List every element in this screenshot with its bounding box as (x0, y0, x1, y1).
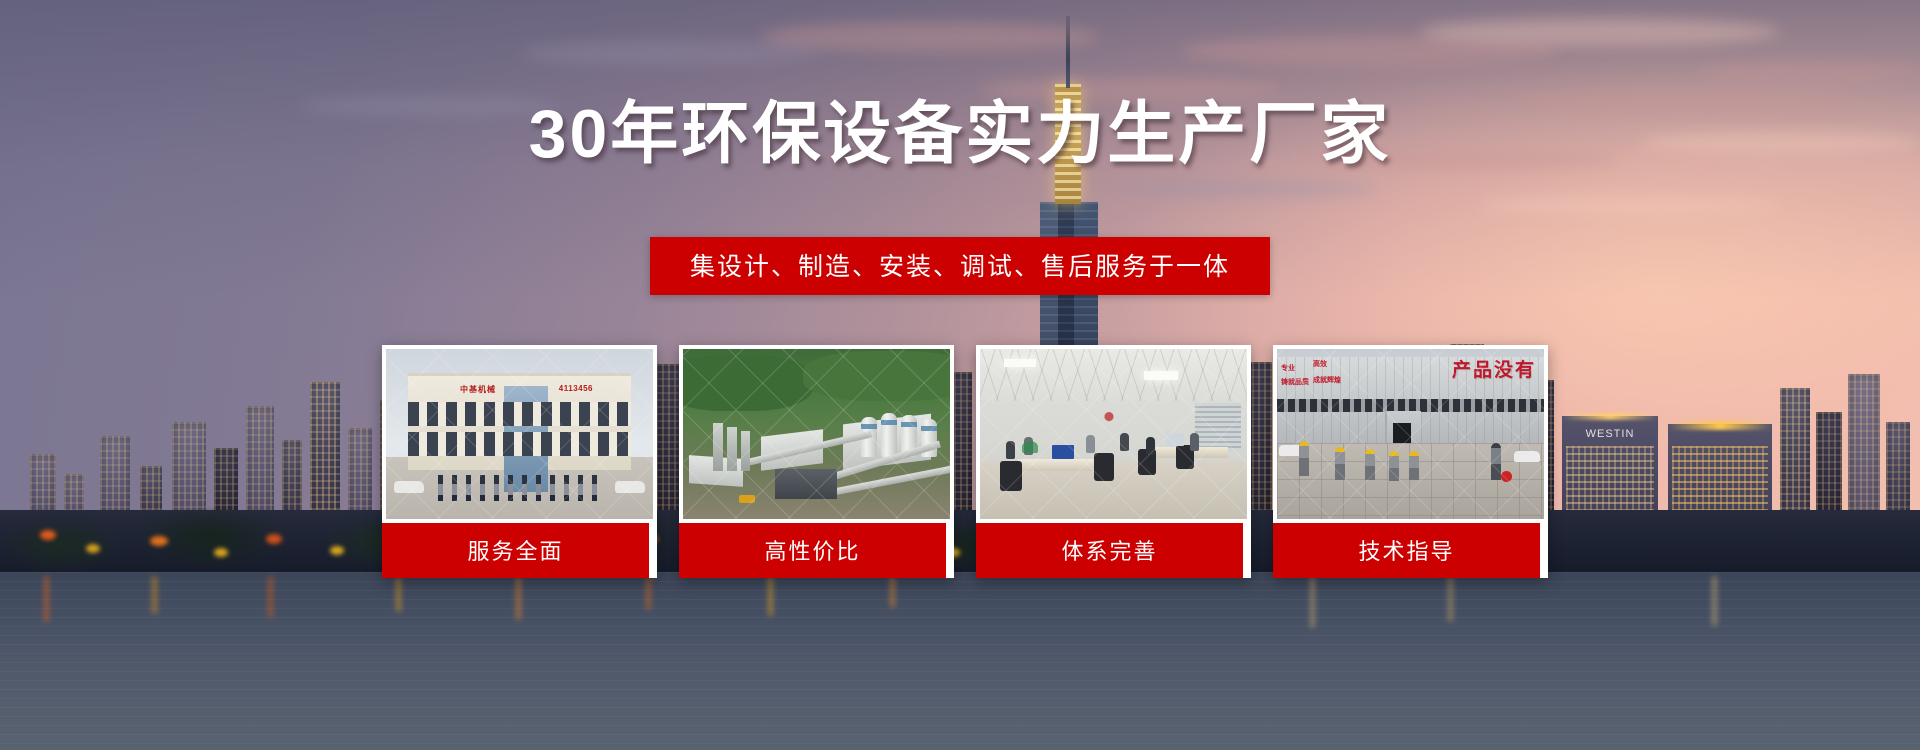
feature-card-value[interactable]: 高性价比 (679, 345, 954, 578)
feature-card-service[interactable]: 中基机械 4113456 服务全面 (382, 345, 657, 578)
card-photo-office-interior (980, 349, 1247, 519)
tower-spire (1066, 16, 1070, 88)
card-caption: 服务全面 (382, 523, 649, 578)
building-phone-text: 4113456 (559, 384, 593, 393)
card-caption: 体系完善 (976, 523, 1243, 578)
subtitle-banner: 集设计、制造、安装、调试、售后服务于一体 (650, 237, 1270, 295)
wall-emblem (1092, 407, 1126, 431)
card-caption: 技术指导 (1273, 523, 1540, 578)
card-photo-headquarters: 中基机械 4113456 (386, 349, 653, 519)
building-sign-text: 中基机械 (460, 384, 496, 395)
page-title: 30年环保设备实力生产厂家 (0, 100, 1920, 168)
feature-card-system[interactable]: 体系完善 (976, 345, 1251, 578)
factory-slogan-1: 专业 (1281, 365, 1295, 374)
factory-slogan-2: 高效 (1313, 361, 1327, 370)
river-water (0, 572, 1920, 750)
card-photo-workers-factory: 产品没有 专业 高效 铸就品质 成就辉煌 (1277, 349, 1544, 519)
card-caption: 高性价比 (679, 523, 946, 578)
westin-label: WESTIN (1562, 428, 1658, 440)
factory-sign-text: 产品没有 (1452, 355, 1536, 382)
card-photo-plant-aerial (683, 349, 950, 519)
factory-slogan-3: 铸就品质 (1281, 379, 1309, 388)
hero-banner: WESTIN (0, 0, 1920, 750)
feature-card-technical[interactable]: 产品没有 专业 高效 铸就品质 成就辉煌 (1273, 345, 1548, 578)
feature-card-row: 中基机械 4113456 服务全面 (382, 345, 1548, 578)
factory-slogan-4: 成就辉煌 (1313, 377, 1341, 386)
